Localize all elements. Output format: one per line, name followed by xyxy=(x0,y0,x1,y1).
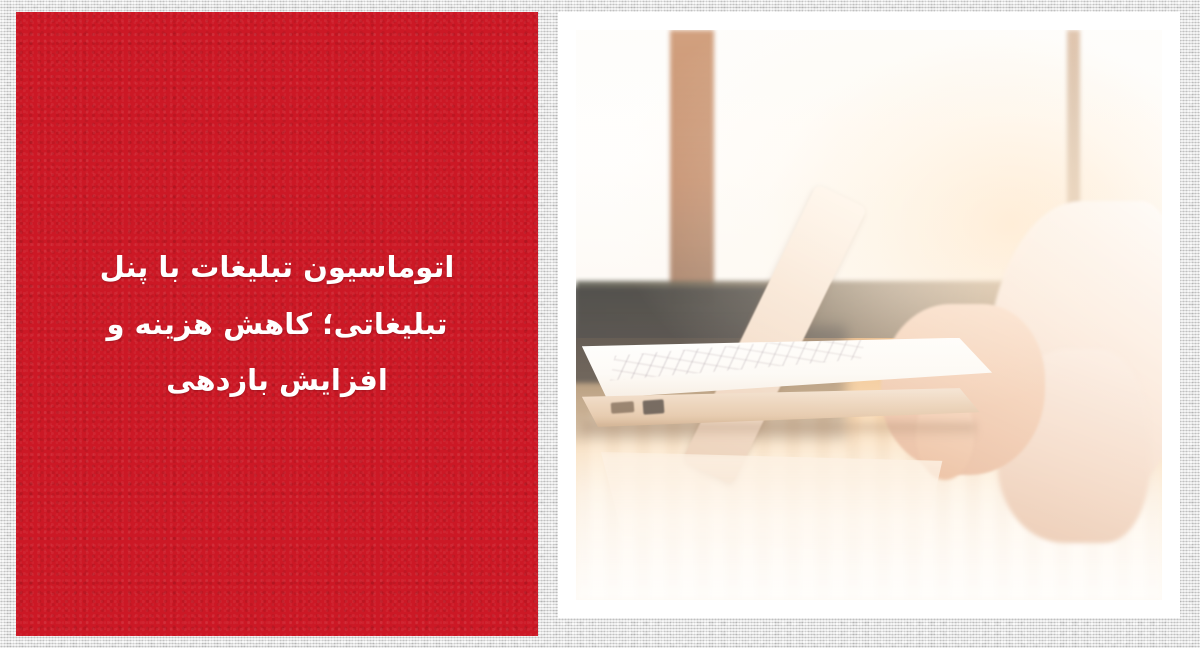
title-line-2: تبلیغاتی؛ کاهش هزینه و xyxy=(81,296,473,353)
headline-panel: اتوماسیون تبلیغات با پنل تبلیغاتی؛ کاهش … xyxy=(16,12,538,636)
laptop xyxy=(582,338,992,435)
laptop-port-square xyxy=(643,399,664,414)
laptop-shadow xyxy=(582,423,976,439)
page-title: اتوماسیون تبلیغات با پنل تبلیغاتی؛ کاهش … xyxy=(81,239,473,409)
hero-photo xyxy=(576,30,1162,600)
title-line-1: اتوماسیون تبلیغات با پنل xyxy=(81,239,473,296)
laptop-port-usb xyxy=(610,401,633,413)
banner-root: اتوماسیون تبلیغات با پنل تبلیغاتی؛ کاهش … xyxy=(0,0,1200,648)
photo-frame xyxy=(558,12,1180,618)
window-mullion-icon xyxy=(670,30,715,304)
laptop-keys xyxy=(610,334,866,381)
title-line-3: افزایش بازدهی xyxy=(81,352,473,409)
